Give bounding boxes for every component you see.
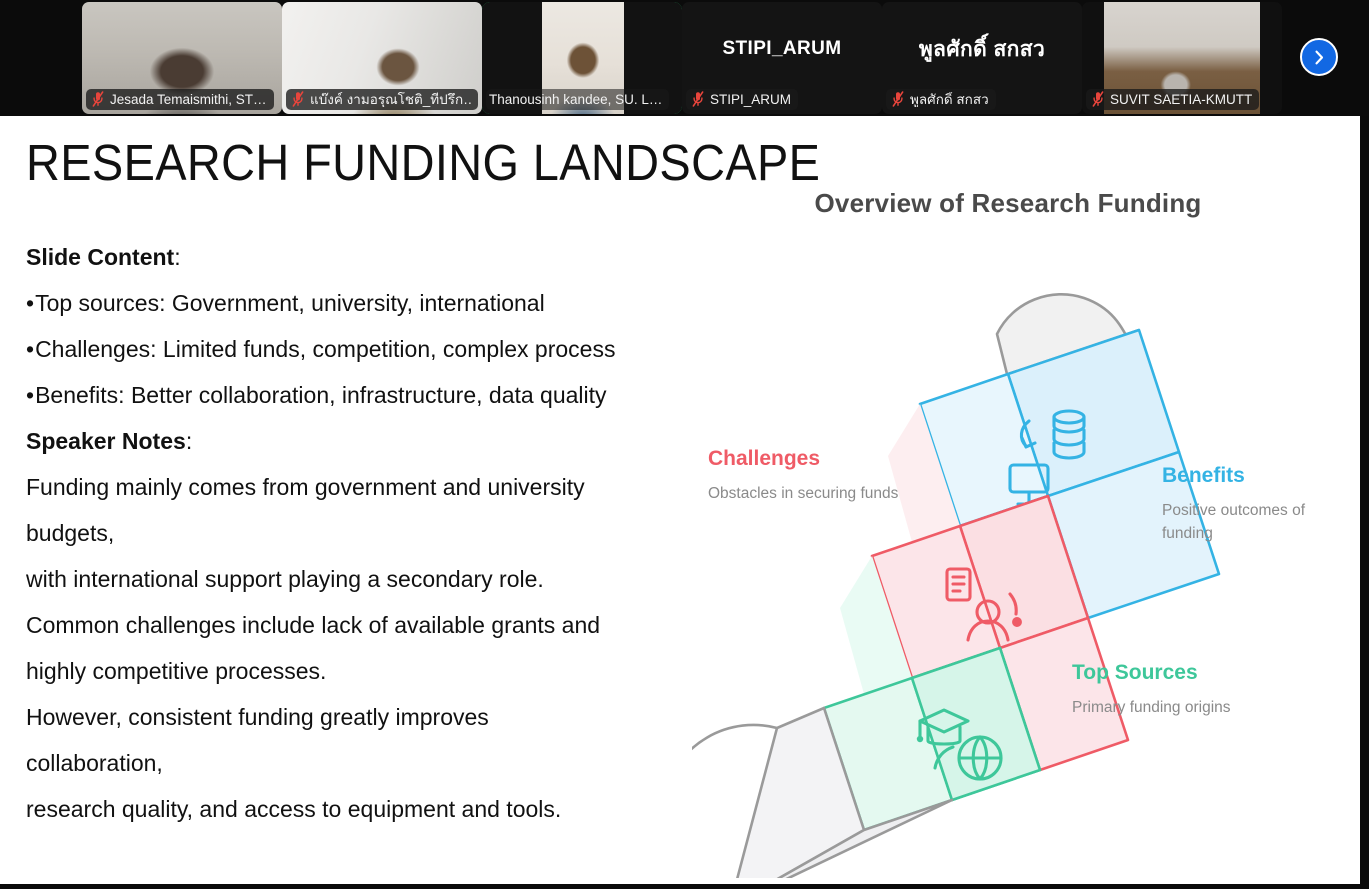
participant-tile-4[interactable]: พูลศักดิ์ สกสว พูลศักดิ์ สกสว: [882, 2, 1082, 114]
speaker-notes-heading: Speaker Notes:: [26, 418, 691, 464]
mute-icon: [891, 91, 905, 107]
slide-content-heading: Slide Content:: [26, 234, 691, 280]
participant-tile-0[interactable]: Jesada Temaismithi, ST…: [82, 2, 282, 114]
participant-namebar-1: แบ๊งค์ งามอรุณโชติ_ที่ปรึก…: [286, 89, 478, 110]
participant-namebar-0: Jesada Temaismithi, ST…: [86, 89, 274, 110]
participant-tile-2[interactable]: Thanousinh kandee, SU. L…: [482, 2, 682, 114]
participant-filmstrip: Jesada Temaismithi, ST… แบ๊งค์ งามอรุณโช…: [0, 0, 1369, 116]
label-top-sources: Top Sources Primary funding origins: [1072, 660, 1282, 719]
zoom-shared-screen-window: Jesada Temaismithi, ST… แบ๊งค์ งามอรุณโช…: [0, 0, 1369, 889]
chevron-right-icon: [1312, 49, 1327, 66]
participant-name-4: พูลศักดิ์ สกสว: [910, 92, 989, 107]
speaker-note-line-0: Funding mainly comes from government and…: [26, 464, 691, 510]
speaker-note-line-4: highly competitive processes.: [26, 648, 691, 694]
speaker-notes-block: Speaker Notes: Funding mainly comes from…: [26, 418, 691, 832]
participant-namebar-4: พูลศักดิ์ สกสว: [886, 89, 996, 110]
research-funding-infographic: Overview of Research Funding: [692, 188, 1352, 878]
label-challenges: Challenges Obstacles in securing funds: [708, 446, 918, 505]
next-page-button[interactable]: [1300, 38, 1338, 76]
pencil-tip: [692, 678, 952, 878]
label-benefits-desc: Positive outcomes of funding: [1162, 499, 1337, 545]
speaker-note-line-2: with international support playing a sec…: [26, 556, 691, 602]
mute-icon: [691, 91, 705, 107]
participant-namebar-5: SUVIT SAETIA-KMUTT: [1086, 89, 1259, 110]
slide-content-heading-text: Slide Content: [26, 244, 174, 270]
label-benefits: Benefits Positive outcomes of funding: [1162, 463, 1337, 545]
speaker-notes-heading-text: Speaker Notes: [26, 428, 186, 454]
slide-bullet-1: Challenges: Limited funds, competition, …: [26, 326, 691, 372]
slide-bullet-2: Benefits: Better collaboration, infrastr…: [26, 372, 691, 418]
slide-body-text: Slide Content: Top sources: Government, …: [26, 234, 691, 832]
label-challenges-title: Challenges: [708, 446, 918, 472]
slide-title: RESEARCH FUNDING LANDSCAPE: [26, 133, 820, 193]
speaker-note-line-5: However, consistent funding greatly impr…: [26, 694, 691, 740]
label-challenges-desc: Obstacles in securing funds: [708, 482, 918, 505]
participant-name-3: STIPI_ARUM: [710, 92, 791, 107]
participant-tile-3[interactable]: STIPI_ARUM STIPI_ARUM: [682, 2, 882, 114]
presentation-slide: RESEARCH FUNDING LANDSCAPE Slide Content…: [0, 116, 1360, 884]
participant-name-1: แบ๊งค์ งามอรุณโชติ_ที่ปรึก…: [310, 92, 471, 107]
label-top-sources-desc: Primary funding origins: [1072, 696, 1282, 719]
label-benefits-title: Benefits: [1162, 463, 1337, 489]
mute-icon: [291, 91, 305, 107]
participant-namebar-3: STIPI_ARUM: [686, 89, 798, 110]
mute-icon: [91, 91, 105, 107]
participant-namebar-2: Thanousinh kandee, SU. L…: [486, 89, 669, 110]
speaker-note-line-7: research quality, and access to equipmen…: [26, 786, 691, 832]
shared-screen-area: RESEARCH FUNDING LANDSCAPE Slide Content…: [0, 116, 1369, 889]
label-top-sources-title: Top Sources: [1072, 660, 1282, 686]
participant-name-5: SUVIT SAETIA-KMUTT: [1110, 92, 1252, 107]
slide-bullet-0: Top sources: Government, university, int…: [26, 280, 691, 326]
participant-tile-5[interactable]: SUVIT SAETIA-KMUTT: [1082, 2, 1282, 114]
participant-tile-1[interactable]: แบ๊งค์ งามอรุณโชติ_ที่ปรึก…: [282, 2, 482, 114]
speaker-note-line-1: budgets,: [26, 510, 691, 556]
participant-name-2: Thanousinh kandee, SU. L…: [489, 92, 662, 107]
participant-name-0: Jesada Temaismithi, ST…: [110, 92, 267, 107]
speaker-note-line-6: collaboration,: [26, 740, 691, 786]
mute-icon: [1091, 91, 1105, 107]
speaker-note-line-3: Common challenges include lack of availa…: [26, 602, 691, 648]
